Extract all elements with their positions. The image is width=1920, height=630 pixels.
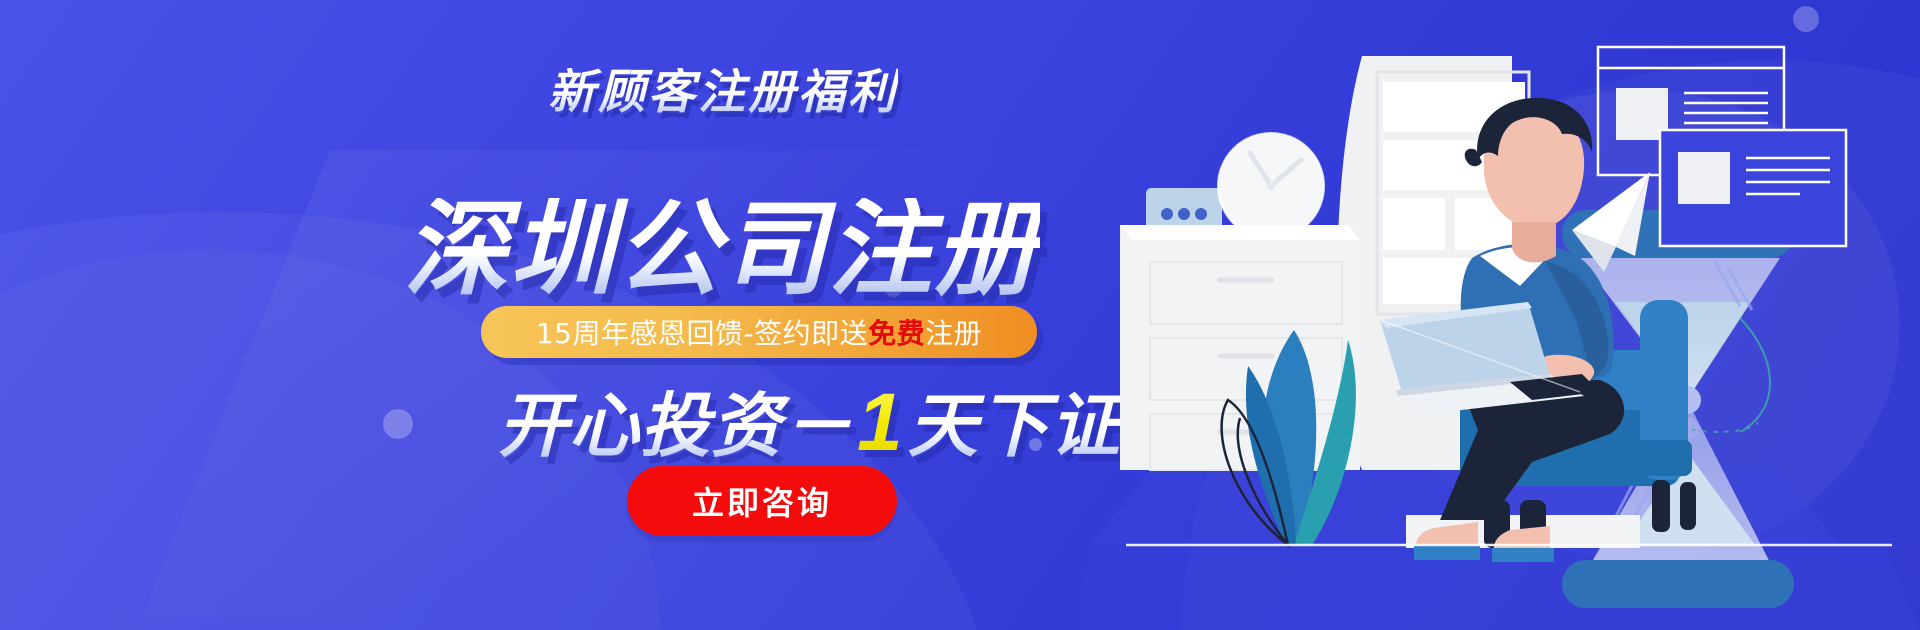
promo-pill-text: 15周年感恩回馈-签约即送免费注册: [536, 312, 982, 352]
promo-pill-suffix: 注册: [925, 317, 982, 350]
promo-pill: 15周年感恩回馈-签约即送免费注册: [481, 306, 1037, 358]
promo-pill-prefix: 15周年感恩回馈-签约即送: [536, 317, 868, 350]
promo-pill-highlight: 免费: [868, 317, 925, 350]
consult-now-button[interactable]: 立即咨询: [627, 466, 897, 536]
copy-block: 新顾客注册福利 深圳公司注册 15周年感恩回馈-签约即送免费注册 开心投资－1天…: [0, 0, 1120, 630]
subheadline-number: 1: [853, 377, 908, 468]
filing-cabinet-icon: [1120, 225, 1360, 470]
document-card-front-icon: [1660, 130, 1846, 246]
promo-banner: 新顾客注册福利 深圳公司注册 15周年感恩回馈-签约即送免费注册 开心投资－1天…: [0, 0, 1920, 630]
consult-now-button-label: 立即咨询: [692, 478, 832, 524]
clock-icon: [1218, 133, 1324, 239]
eyebrow-text: 新顾客注册福利: [548, 68, 898, 115]
subheadline: 开心投资－1天下证: [498, 382, 1121, 464]
subheadline-before: 开心投资－: [498, 387, 853, 465]
page-title: 深圳公司注册: [404, 198, 1040, 302]
illustration: [1080, 0, 1920, 630]
